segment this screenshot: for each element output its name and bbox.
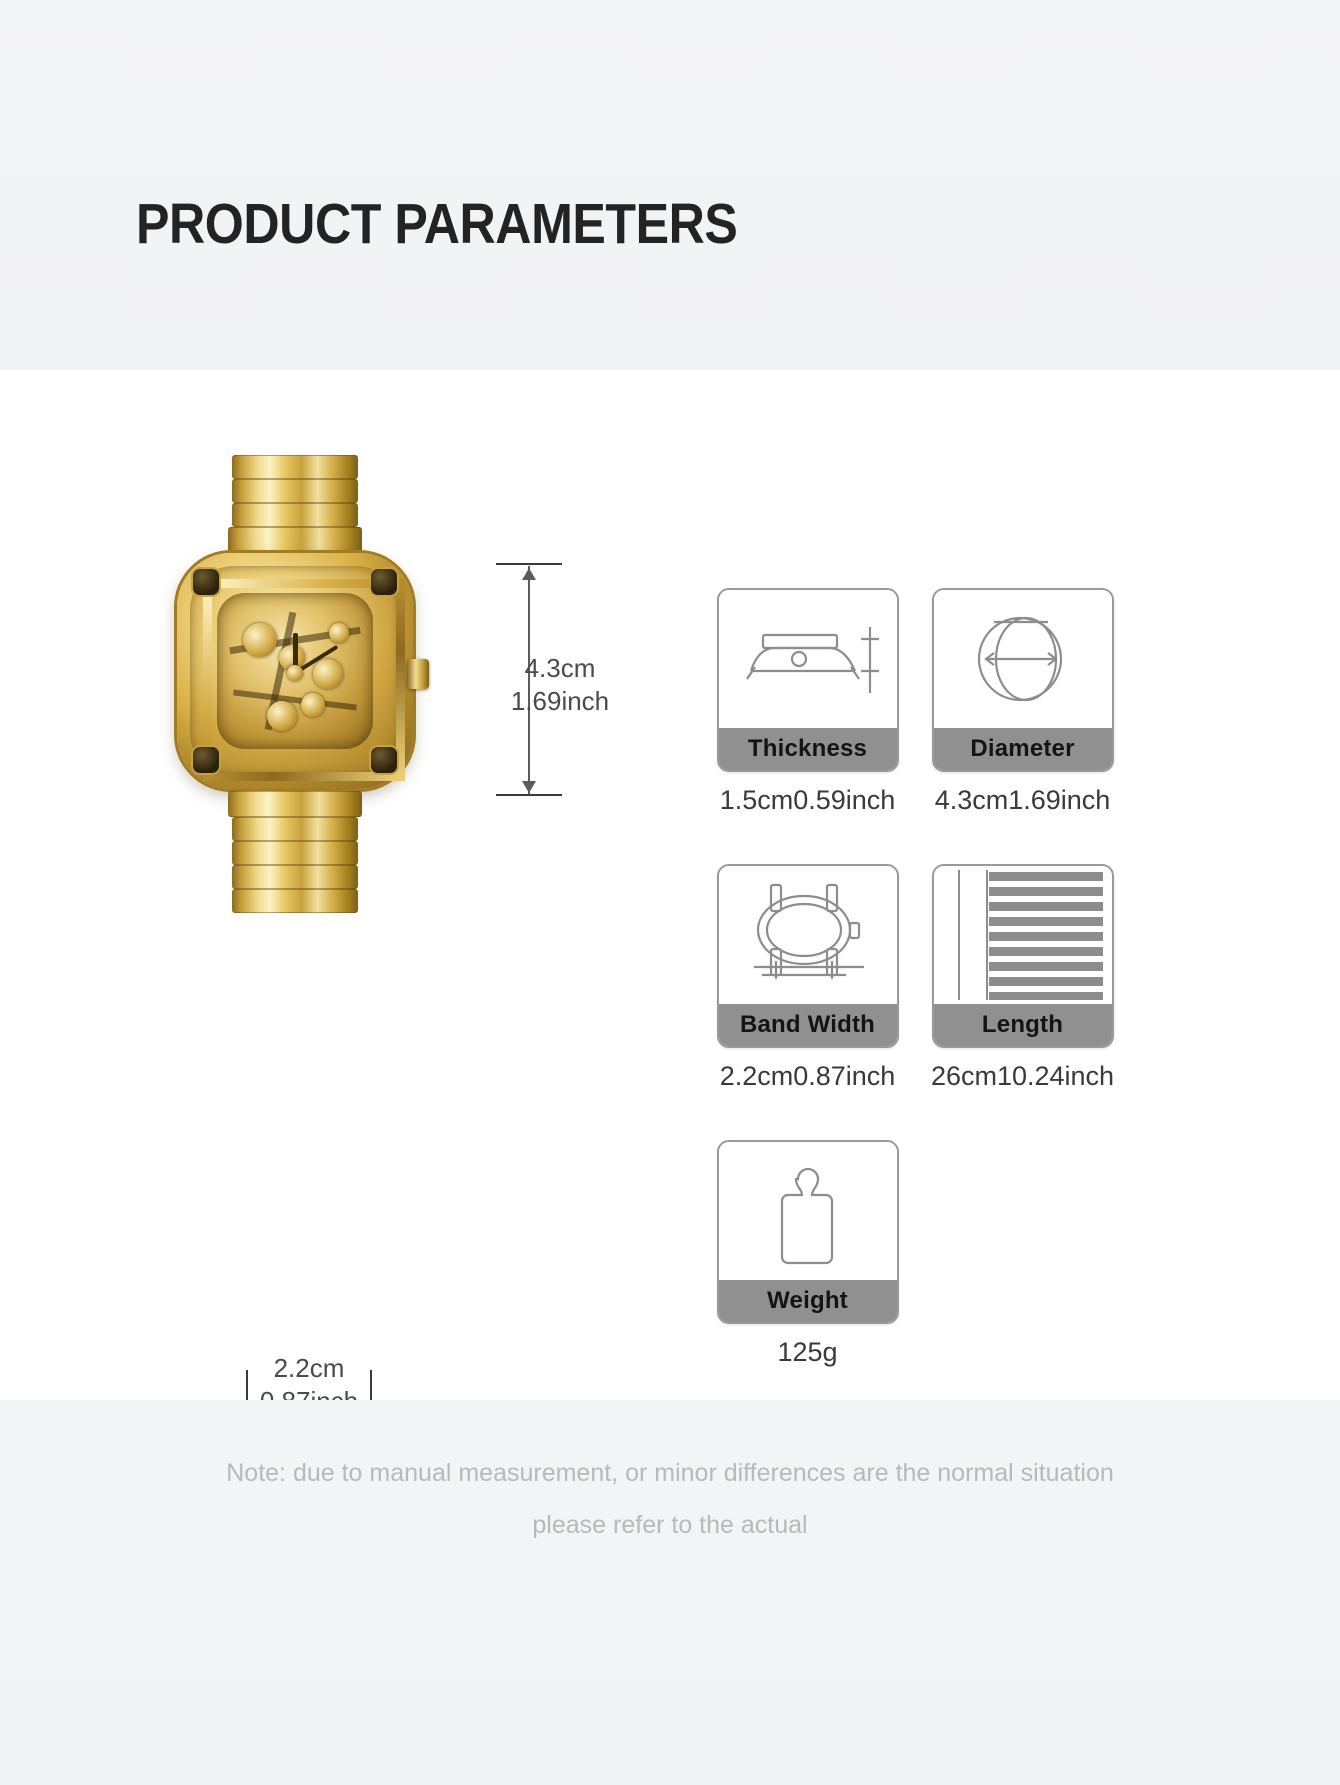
spec-label: Thickness	[719, 728, 897, 770]
height-dimension-cap-bottom	[496, 794, 562, 796]
note-line-1: Note: due to manual measurement, or mino…	[0, 1447, 1340, 1499]
spec-card-grid: Thickness 1.5cm0.59inch Diameter	[700, 588, 1130, 1368]
height-arrow-down-icon	[522, 781, 536, 793]
main-stage: 4.3cm 1.69inch 2.2cm 0.87inch	[0, 370, 1340, 1400]
spec-value: 1.5cm0.59inch	[720, 785, 896, 816]
weight-tag-icon	[719, 1142, 897, 1280]
spec-item-band-width: Band Width 2.2cm0.87inch	[700, 864, 915, 1092]
spec-row: Band Width 2.2cm0.87inch	[700, 864, 1130, 1092]
watch-crown	[407, 659, 429, 689]
spec-value: 2.2cm0.87inch	[720, 1061, 896, 1092]
spec-card: Band Width	[717, 864, 899, 1048]
bracelet-segment-bottom	[232, 865, 358, 889]
watch-diameter-circle-icon	[934, 590, 1112, 728]
spec-item-length: Length 26cm10.24inch	[915, 864, 1130, 1092]
spec-value: 125g	[777, 1337, 837, 1368]
watch-bracelet-length-icon	[934, 866, 1112, 1004]
spec-label: Band Width	[719, 1004, 897, 1046]
height-arrow-up-icon	[522, 568, 536, 580]
spec-row: Weight 125g	[700, 1140, 1130, 1368]
spec-card: Weight	[717, 1140, 899, 1324]
bracelet-segment-bottom	[232, 889, 358, 913]
width-value-cm: 2.2cm	[239, 1352, 379, 1385]
spec-card: Diameter	[932, 588, 1114, 772]
movement-gear	[313, 659, 343, 689]
watch-illustration	[175, 455, 415, 955]
height-dimension-cap-top	[496, 563, 562, 565]
bezel-corner-pip	[371, 747, 397, 773]
skeleton-dial	[217, 593, 373, 749]
spec-item-weight: Weight 125g	[700, 1140, 915, 1368]
bracelet-segment-bottom	[228, 791, 362, 817]
height-value-cm: 4.3cm	[490, 652, 630, 685]
note-line-2: please refer to the actual	[0, 1499, 1340, 1551]
movement-bridge	[233, 689, 357, 710]
spec-label: Length	[934, 1004, 1112, 1046]
bezel-corner-pip	[193, 569, 219, 595]
bezel-corner-pip	[371, 569, 397, 595]
height-value-inch: 1.69inch	[490, 685, 630, 718]
watch-case	[177, 553, 413, 789]
bracelet-segment-top	[232, 455, 358, 479]
spec-value: 26cm10.24inch	[931, 1061, 1114, 1092]
bracelet-segment-bottom	[232, 817, 358, 841]
movement-gear	[243, 623, 277, 657]
spec-cell-empty	[915, 1140, 1130, 1368]
page-title: PRODUCT PARAMETERS	[136, 193, 737, 255]
row-spacer	[700, 816, 1130, 864]
movement-gear	[329, 623, 349, 643]
bezel-corner-pip	[193, 747, 219, 773]
spec-item-thickness: Thickness 1.5cm0.59inch	[700, 588, 915, 816]
center-pinion	[287, 665, 303, 681]
header-band	[0, 0, 1340, 370]
spec-row: Thickness 1.5cm0.59inch Diameter	[700, 588, 1130, 816]
height-dimension-label: 4.3cm 1.69inch	[490, 652, 630, 718]
disclaimer-note: Note: due to manual measurement, or mino…	[0, 1447, 1340, 1551]
spec-label: Diameter	[934, 728, 1112, 770]
spec-item-diameter: Diameter 4.3cm1.69inch	[915, 588, 1130, 816]
movement-gear	[301, 693, 325, 717]
movement-balance-wheel	[267, 701, 297, 731]
watch-side-profile-icon	[719, 590, 897, 728]
spec-card: Length	[932, 864, 1114, 1048]
row-spacer	[700, 1092, 1130, 1140]
spec-card: Thickness	[717, 588, 899, 772]
spec-value: 4.3cm1.69inch	[935, 785, 1111, 816]
spec-label: Weight	[719, 1280, 897, 1322]
bracelet-segment-top	[232, 479, 358, 503]
bracelet-segment-top	[228, 527, 362, 553]
watch-band-width-icon	[719, 866, 897, 1004]
bracelet-segment-bottom	[232, 841, 358, 865]
bracelet-segment-top	[232, 503, 358, 527]
